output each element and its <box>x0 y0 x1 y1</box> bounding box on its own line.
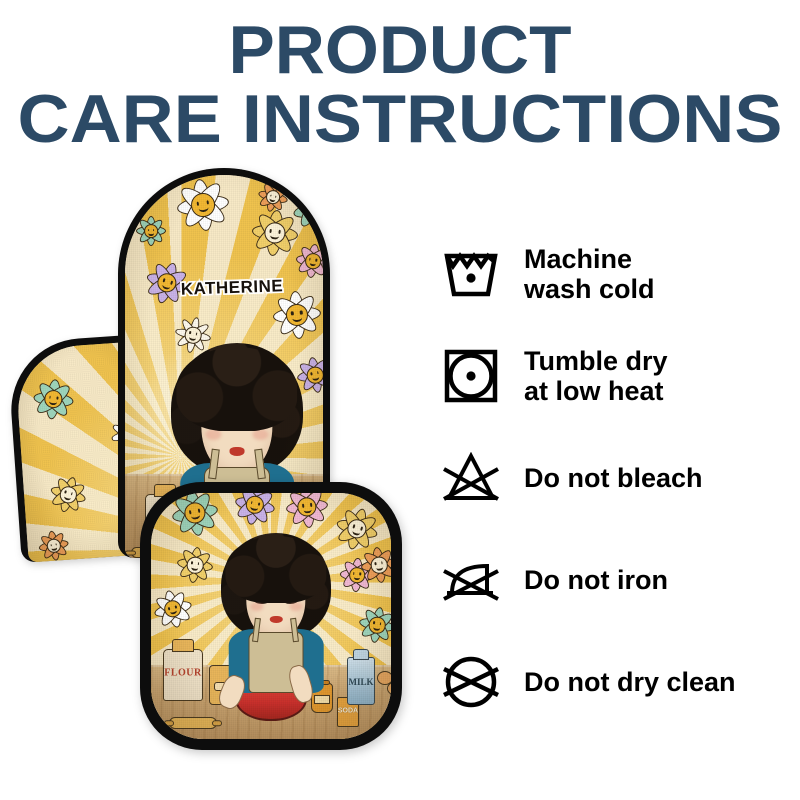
page-title: PRODUCT CARE INSTRUCTIONS <box>0 18 800 153</box>
rolling-pin-prop <box>169 717 217 729</box>
smiley-flower-icon <box>356 604 391 646</box>
milk-label: MILK <box>348 677 373 687</box>
milk-carton-prop: MILK <box>347 657 375 705</box>
title-line-1: PRODUCT <box>0 18 800 83</box>
character-illustration <box>221 533 331 693</box>
care-label-do-not-dry-clean: Do not dry clean <box>524 667 736 697</box>
do-not-iron-icon <box>440 549 502 611</box>
care-row-machine-wash: Machine wash cold <box>440 236 790 312</box>
care-label-tumble-dry: Tumble dry at low heat <box>524 346 668 406</box>
tumble-dry-low-icon <box>440 345 502 407</box>
care-row-do-not-dry-clean: Do not dry clean <box>440 644 790 720</box>
soda-label: SODA <box>338 707 358 714</box>
smiley-flower-icon <box>359 545 391 586</box>
pot-holder-print: FLOUR SODA <box>151 493 391 739</box>
smiley-flower-icon <box>36 528 71 562</box>
smiley-flower-icon <box>250 208 301 259</box>
care-label-do-not-iron: Do not iron <box>524 565 668 595</box>
smiley-flower-icon <box>136 216 166 246</box>
do-not-bleach-icon <box>440 447 502 509</box>
care-row-do-not-iron: Do not iron <box>440 542 790 618</box>
care-label-machine-wash: Machine wash cold <box>524 244 655 304</box>
pot-holder: FLOUR SODA <box>140 482 402 750</box>
smiley-flower-icon <box>284 493 330 530</box>
smiley-flower-icon <box>271 289 323 341</box>
care-row-do-not-bleach: Do not bleach <box>440 440 790 516</box>
title-line-2: CARE INSTRUCTIONS <box>0 87 800 152</box>
care-row-tumble-dry: Tumble dry at low heat <box>440 338 790 414</box>
smiley-flower-icon <box>175 545 216 586</box>
smiley-flower-icon <box>32 377 76 421</box>
machine-wash-cold-icon <box>440 243 502 305</box>
care-instructions-list: Machine wash cold Tumble dry at low heat… <box>440 236 790 746</box>
flour-label: FLOUR <box>164 668 202 679</box>
do-not-dry-clean-icon <box>440 651 502 713</box>
product-image: KATHERINE <box>0 160 420 800</box>
smiley-flower-icon <box>294 242 323 280</box>
care-label-do-not-bleach: Do not bleach <box>524 463 703 493</box>
flour-bag-prop: FLOUR <box>163 649 203 701</box>
personalized-name: KATHERINE <box>180 277 283 301</box>
smiley-flower-icon <box>168 493 221 540</box>
smiley-flower-icon <box>174 176 233 235</box>
